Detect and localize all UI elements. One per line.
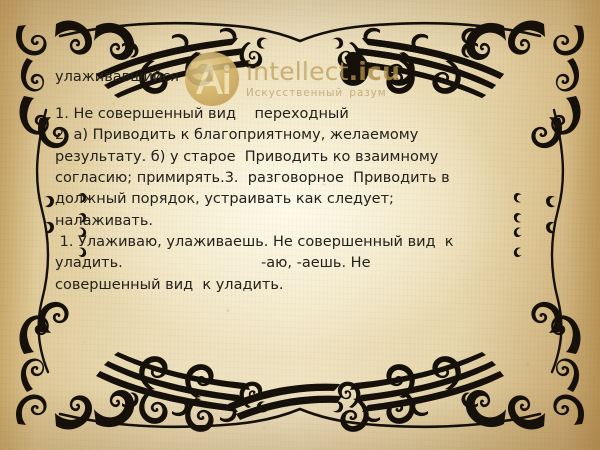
definition-line: налаживать. xyxy=(55,211,555,232)
bottom-center-ornament xyxy=(139,384,415,432)
headword: улаживавшийся xyxy=(55,68,555,86)
forms-block: 1. Улаживаю, улаживаешь. Не совершенный … xyxy=(55,232,555,296)
forms-line: совершенный вид к уладить. xyxy=(55,275,555,296)
forms-line: 1. Улаживаю, улаживаешь. Не совершенный … xyxy=(55,232,555,253)
definition-line: должный порядок, устраивать как следует; xyxy=(55,189,555,210)
forms-line: уладить. -аю, -аешь. Не xyxy=(55,253,555,274)
dictionary-article: улаживавшийся 1. Не совершенный вид пере… xyxy=(55,68,555,296)
definition-line: 1. Не совершенный вид переходный xyxy=(55,104,555,125)
parchment-page: intellect.icu Искусственный разум улажив… xyxy=(0,0,600,450)
definition-line: результату. б) у старое Приводить ко вза… xyxy=(55,147,555,168)
definition-line: 2. а) Приводить к благоприятному, желаем… xyxy=(55,125,555,146)
definition-line: согласию; примирять.3. разговорное Приво… xyxy=(55,168,555,189)
definition-block: 1. Не совершенный вид переходный 2. а) П… xyxy=(55,104,555,232)
